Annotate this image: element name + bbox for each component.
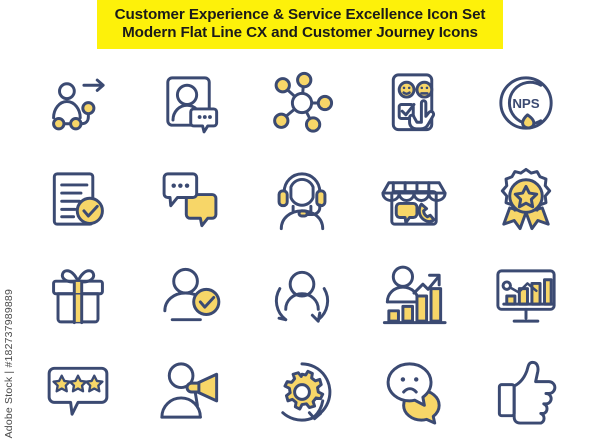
customer-growth-chart-icon — [377, 259, 451, 333]
icon-cell-storefront-contact[interactable] — [358, 151, 470, 247]
verified-customer-icon — [153, 259, 227, 333]
complaint-sad-face-icon — [377, 355, 451, 429]
icon-grid: NPS — [22, 55, 582, 440]
icon-cell-star-rating-review[interactable] — [22, 344, 134, 440]
title-banner: Customer Experience & Service Excellence… — [0, 0, 600, 55]
chat-bubbles-icon — [153, 162, 227, 236]
icon-cell-gift-reward[interactable] — [22, 248, 134, 344]
title-line-1: Customer Experience & Service Excellence… — [115, 6, 486, 24]
icon-cell-approved-document[interactable] — [22, 151, 134, 247]
icon-cell-complaint-sad-face[interactable] — [358, 344, 470, 440]
watermark-text: Adobe Stock | #182737989889 — [3, 289, 15, 438]
icon-cell-referral-megaphone[interactable] — [134, 344, 246, 440]
title-line-2: Modern Flat Line CX and Customer Journey… — [115, 24, 486, 42]
storefront-contact-icon — [377, 162, 451, 236]
icon-cell-verified-customer[interactable] — [134, 248, 246, 344]
thumbs-up-icon — [489, 355, 563, 429]
support-agent-headset-icon — [265, 162, 339, 236]
quality-award-badge-icon — [489, 162, 563, 236]
nps-score-icon: NPS — [489, 66, 563, 140]
approved-document-icon — [41, 162, 115, 236]
icon-cell-support-agent[interactable] — [246, 151, 358, 247]
customer-journey-icon — [41, 66, 115, 140]
icon-cell-customer-journey[interactable] — [22, 55, 134, 151]
icon-cell-customer-profile-chat[interactable] — [134, 55, 246, 151]
watermark: Adobe Stock | #182737989889 — [0, 228, 19, 438]
analytics-dashboard-icon — [489, 259, 563, 333]
customer-profile-chat-icon — [153, 66, 227, 140]
nps-label: NPS — [512, 96, 539, 111]
referral-megaphone-icon — [153, 355, 227, 429]
gift-reward-icon — [41, 259, 115, 333]
customer-retention-icon — [265, 259, 339, 333]
service-process-gear-icon — [265, 355, 339, 429]
icon-cell-network-hub[interactable] — [246, 55, 358, 151]
network-hub-icon — [265, 66, 339, 140]
icon-cell-nps-score[interactable]: NPS — [470, 55, 582, 151]
icon-cell-service-process-gear[interactable] — [246, 344, 358, 440]
icon-cell-chat-bubbles[interactable] — [134, 151, 246, 247]
icon-cell-thumbs-up[interactable] — [470, 344, 582, 440]
icon-cell-satisfaction-survey[interactable] — [358, 55, 470, 151]
title-banner-box: Customer Experience & Service Excellence… — [97, 0, 504, 49]
icon-cell-quality-award[interactable] — [470, 151, 582, 247]
icon-cell-analytics-dashboard[interactable] — [470, 248, 582, 344]
icon-cell-customer-growth[interactable] — [358, 248, 470, 344]
satisfaction-survey-icon — [377, 66, 451, 140]
star-rating-review-icon — [41, 355, 115, 429]
icon-cell-customer-retention[interactable] — [246, 248, 358, 344]
